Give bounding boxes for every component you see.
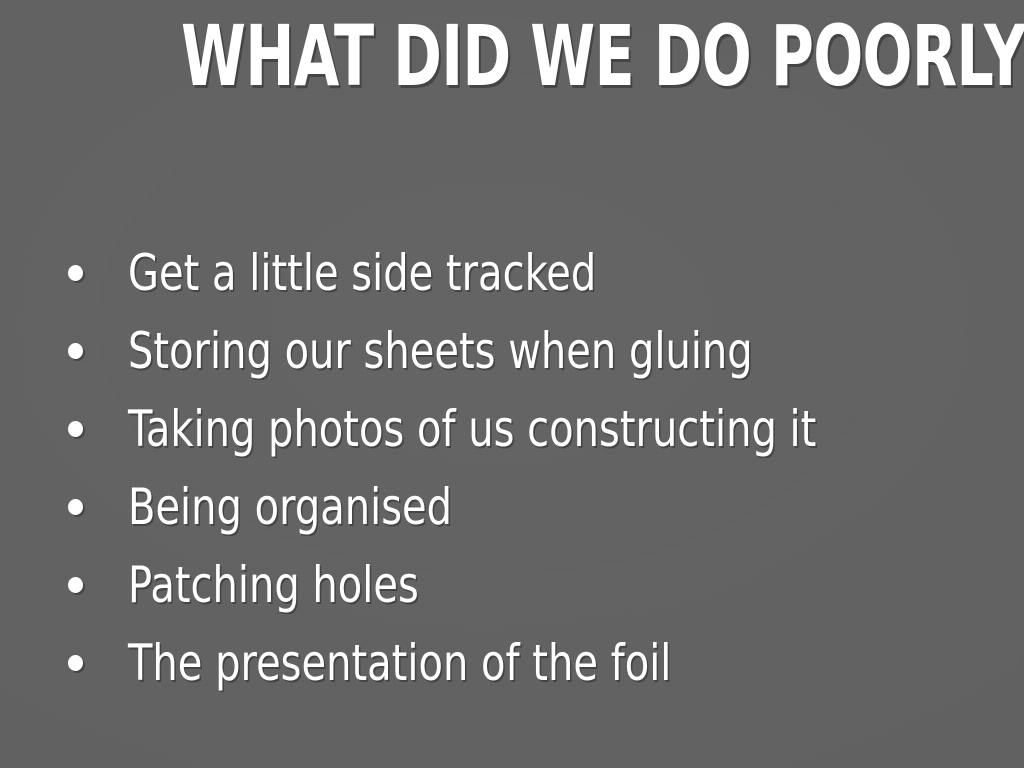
bullet-point-icon [68,265,83,281]
bullet-item-label: Storing our sheets when gluing [128,326,753,376]
slide-title-block: WHAT DID WE DO POORLY [0,14,1024,98]
bullet-point-icon [68,421,83,437]
bullet-item-label: Taking photos of us constructing it [128,404,816,454]
list-item: Storing our sheets when gluing [60,312,1004,390]
bullet-list: Get a little side tracked Storing our sh… [60,234,1004,702]
bullet-point-icon [68,499,83,515]
list-item: Patching holes [60,546,1004,624]
list-item: Get a little side tracked [60,234,1004,312]
list-item: Being organised [60,468,1004,546]
bullet-item-label: Patching holes [128,560,419,610]
bullet-point-icon [68,655,83,671]
bullet-item-label: The presentation of the foil [128,638,671,688]
list-item: The presentation of the foil [60,624,1004,702]
list-item: Taking photos of us constructing it [60,390,1004,468]
slide-title: WHAT DID WE DO POORLY [181,14,1024,98]
bullet-item-label: Being organised [128,482,452,532]
bullet-point-icon [68,577,83,593]
bullet-item-label: Get a little side tracked [128,248,596,298]
presentation-slide: WHAT DID WE DO POORLY Get a little side … [0,0,1024,768]
bullet-point-icon [68,343,83,359]
